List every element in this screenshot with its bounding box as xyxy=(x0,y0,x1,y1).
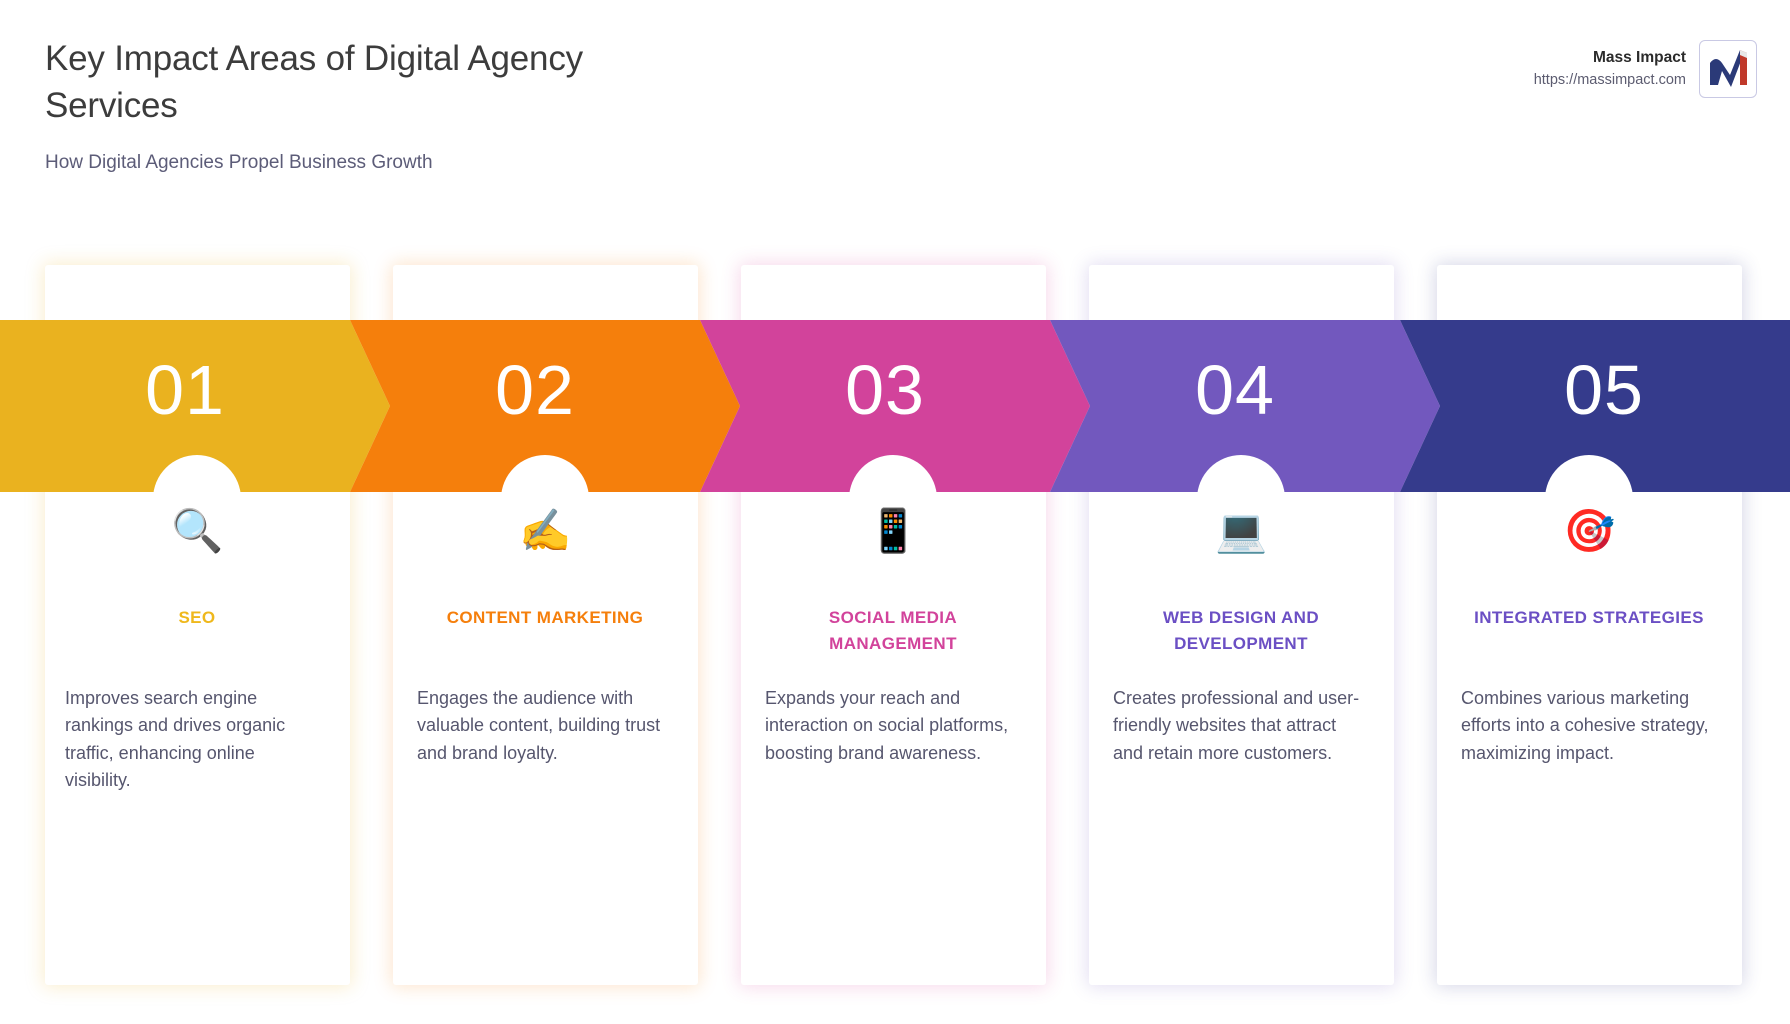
step-description-4: Creates professional and user-friendly w… xyxy=(1113,685,1361,767)
step-category-4: WEB DESIGN AND DEVELOPMENT xyxy=(1111,605,1371,658)
step-description-2: Engages the audience with valuable conte… xyxy=(417,685,665,767)
laptop-computer-icon: 💻 xyxy=(1089,510,1394,560)
step-category-2: CONTENT MARKETING xyxy=(415,605,675,631)
step-number-5: 05 xyxy=(1564,355,1644,425)
step-category-1: SEO xyxy=(67,605,327,631)
infographic-page: Key Impact Areas of Digital Agency Servi… xyxy=(0,0,1790,1024)
step-number-1: 01 xyxy=(145,355,225,425)
step-description-1: Improves search engine rankings and driv… xyxy=(65,685,313,794)
step-category-3: SOCIAL MEDIA MANAGEMENT xyxy=(763,605,1023,658)
magnifying-glass-icon: 🔍 xyxy=(45,510,350,560)
target-dart-icon: 🎯 xyxy=(1437,510,1742,560)
mobile-phone-icon: 📱 xyxy=(741,510,1046,560)
step-number-3: 03 xyxy=(845,355,925,425)
step-number-4: 04 xyxy=(1195,355,1275,425)
step-description-5: Combines various marketing efforts into … xyxy=(1461,685,1709,767)
step-number-2: 02 xyxy=(495,355,575,425)
writing-hand-icon: ✍️ xyxy=(393,510,698,560)
step-description-3: Expands your reach and interaction on so… xyxy=(765,685,1013,767)
step-category-5: INTEGRATED STRATEGIES xyxy=(1459,605,1719,631)
